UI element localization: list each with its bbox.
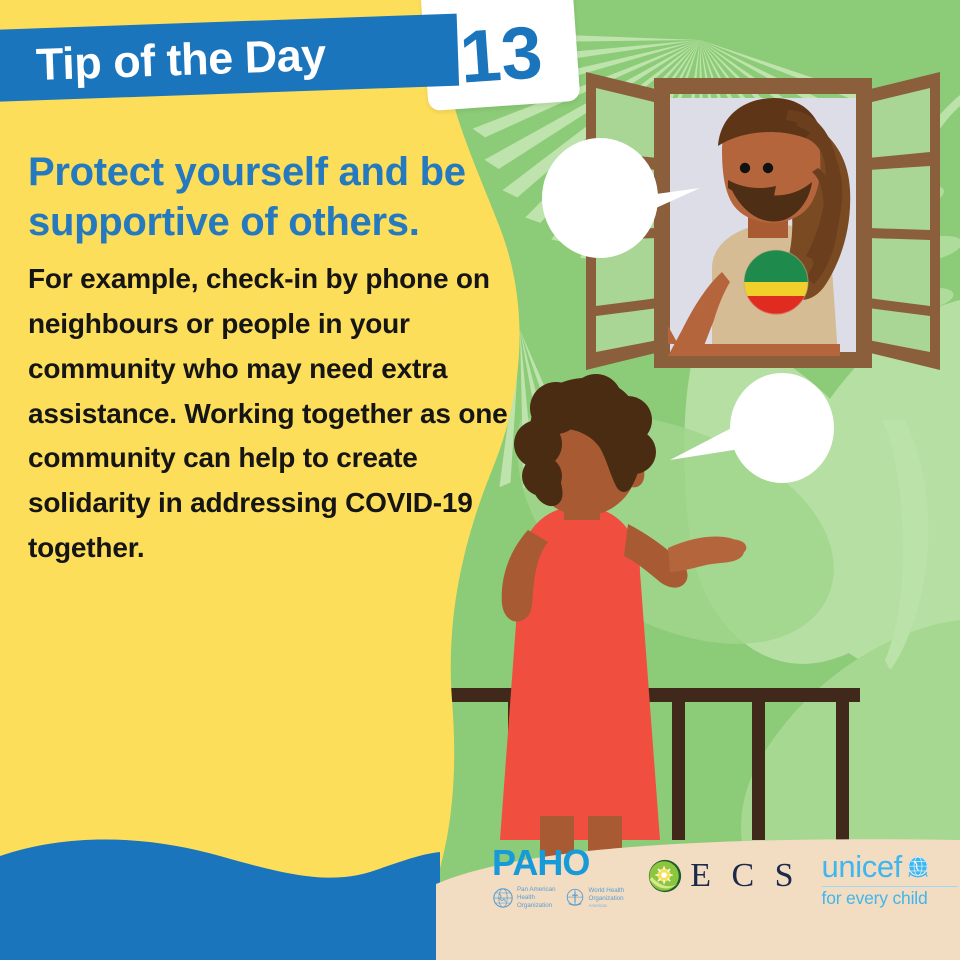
- oecs-letters: E C S: [690, 859, 799, 893]
- unicef-row: unicef: [822, 851, 958, 882]
- paho-logo: PAHO Pan American Health Organization: [492, 845, 624, 909]
- unicef-wordmark: unicef: [822, 851, 902, 882]
- paho-seal-line-3: Organization: [517, 902, 552, 909]
- oecs-emblem-icon: [646, 857, 684, 895]
- shirt-emblem: [744, 250, 808, 314]
- tip-banner-label: Tip of the Day: [35, 29, 326, 91]
- paho-globe-icon: [492, 887, 514, 909]
- logo-bar: PAHO Pan American Health Organization: [470, 845, 960, 960]
- speech-bubble-lower: [670, 373, 834, 483]
- paho-seal-text: Pan American Health Organization: [517, 886, 556, 909]
- who-seal-line-2: Organization: [589, 895, 624, 902]
- paho-sublogos: Pan American Health Organization Worl: [492, 886, 624, 909]
- who-seal-line-1: World Health: [589, 887, 625, 894]
- paho-seal-line-2: Health: [517, 894, 535, 901]
- unicef-divider: [822, 886, 958, 887]
- text-column: Protect yourself and be supportive of ot…: [28, 148, 528, 571]
- unicef-tagline: for every child: [822, 890, 958, 908]
- who-seal-text: World Health Organization Americas: [589, 887, 625, 908]
- body-paragraph: For example, check-in by phone on neighb…: [28, 257, 528, 571]
- who-emblem-icon: [564, 887, 586, 909]
- tip-of-the-day-poster: 13 Tip of the Day Protect yourself and b…: [0, 0, 960, 960]
- un-globe-icon: [904, 853, 932, 881]
- unicef-logo: unicef for every chi: [822, 851, 958, 908]
- oecs-logo: E C S: [646, 845, 799, 895]
- body-copy: For example, check-in by phone on neighb…: [28, 257, 528, 571]
- man-eye-right: [763, 163, 773, 173]
- paho-wordmark: PAHO: [492, 845, 624, 881]
- who-seal: World Health Organization Americas: [564, 886, 625, 909]
- paho-seal: Pan American Health Organization: [492, 886, 556, 909]
- oecs-row: E C S: [646, 857, 799, 895]
- man-eye-left: [740, 163, 750, 173]
- who-seal-sub: Americas: [589, 903, 625, 909]
- paho-seal-line-1: Pan American: [517, 886, 556, 893]
- page-title: Protect yourself and be supportive of ot…: [28, 148, 528, 247]
